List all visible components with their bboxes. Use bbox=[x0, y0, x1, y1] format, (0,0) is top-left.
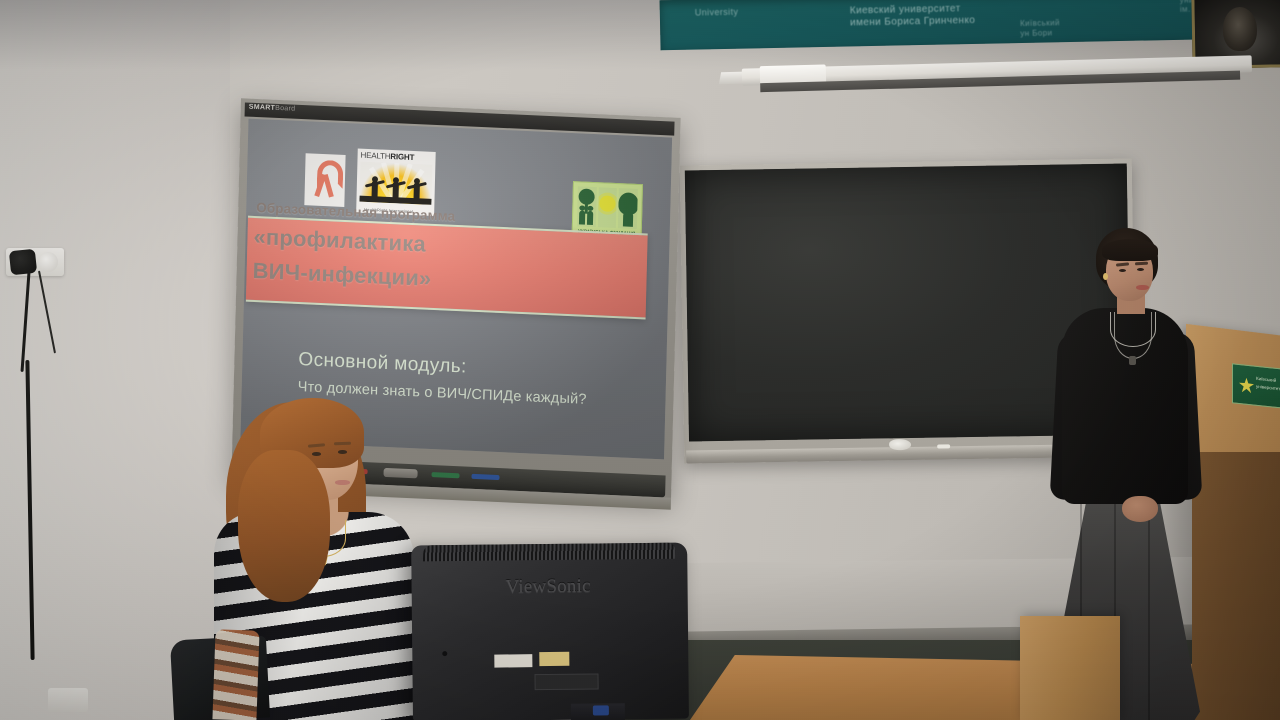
banner-text-line-1: University bbox=[695, 7, 739, 18]
banner-text-line-5: ун Бори bbox=[1020, 28, 1052, 38]
monitor-badge-icon bbox=[593, 705, 609, 715]
presenter-eye-left bbox=[1119, 269, 1126, 272]
lectern-emblem-icon bbox=[1239, 377, 1254, 394]
lectern-sign-line-2: університет bbox=[1256, 384, 1280, 392]
monitor-brand-logo: ViewSonic bbox=[505, 576, 590, 599]
socket-right[interactable] bbox=[38, 252, 58, 272]
healthright-artwork bbox=[359, 162, 432, 205]
presenter-eye-right bbox=[1137, 268, 1144, 271]
skirt-fold bbox=[1148, 496, 1150, 720]
aids-ribbon-logo bbox=[304, 153, 345, 207]
wooden-podium-block bbox=[1020, 616, 1120, 720]
presenter-hands bbox=[1122, 496, 1158, 522]
monitor-screw-hole bbox=[442, 651, 447, 656]
monitor-rear-shell bbox=[411, 543, 689, 720]
classroom-photo-scene: University Киевский университет имени Бо… bbox=[0, 0, 1280, 720]
presenter-mouth bbox=[1136, 285, 1149, 290]
seated-eyebrow-right bbox=[334, 442, 351, 446]
healthright-word-light: HE bbox=[360, 151, 371, 160]
ribbon-loop bbox=[317, 160, 344, 189]
scarf-on-chair bbox=[212, 629, 259, 720]
earring-icon bbox=[1103, 273, 1108, 280]
power-plug[interactable] bbox=[9, 249, 37, 276]
portrait-figure bbox=[1223, 7, 1258, 52]
banner-text-line-3: имени Бориса Гринченко bbox=[850, 15, 975, 29]
banner-text-line-4: Київський bbox=[1020, 18, 1060, 28]
lower-wall-outlet[interactable] bbox=[48, 688, 88, 712]
monitor-regulatory-label bbox=[534, 673, 598, 690]
sun-icon bbox=[599, 195, 615, 212]
artwork-ground bbox=[359, 196, 431, 205]
presenter-fringe bbox=[1102, 239, 1158, 261]
healthright-wordmark: HEALTHRIGHT bbox=[360, 151, 432, 163]
chalk-stick-icon bbox=[937, 444, 950, 448]
monitor-yellow-sticker bbox=[539, 652, 569, 666]
healthright-word-bold: RIGHT bbox=[390, 152, 414, 162]
banner-text-line-2: Киевский университет bbox=[850, 3, 961, 16]
lectern-sign-line-1: Київський bbox=[1256, 376, 1276, 383]
smart-board-brand-name: SMART bbox=[249, 104, 276, 112]
seated-hair-strand bbox=[238, 450, 330, 602]
seated-eye-right bbox=[338, 450, 347, 454]
seated-eye-left bbox=[312, 452, 321, 456]
seated-mouth bbox=[335, 480, 350, 485]
monitor-spec-label bbox=[494, 654, 532, 667]
slide-title-line-1: «профилактика bbox=[253, 226, 643, 265]
monitor-vents bbox=[423, 543, 676, 562]
healthright-word-mid: ALTH bbox=[371, 151, 390, 161]
necklace-second-strand bbox=[1114, 312, 1152, 359]
viewsonic-monitor[interactable]: ViewSonic bbox=[405, 532, 695, 720]
slide-title-band: Образовательная программа «профилактика … bbox=[246, 216, 648, 320]
smart-board-brand-sub: Board bbox=[275, 105, 295, 113]
slide-title-line-2: ВИЧ-инфекции» bbox=[252, 260, 642, 299]
red-ribbon-icon bbox=[314, 160, 335, 201]
lectern-sign: Київський університет bbox=[1232, 363, 1280, 408]
pendant-icon bbox=[1129, 356, 1136, 365]
chalk-rag-icon bbox=[889, 439, 911, 450]
